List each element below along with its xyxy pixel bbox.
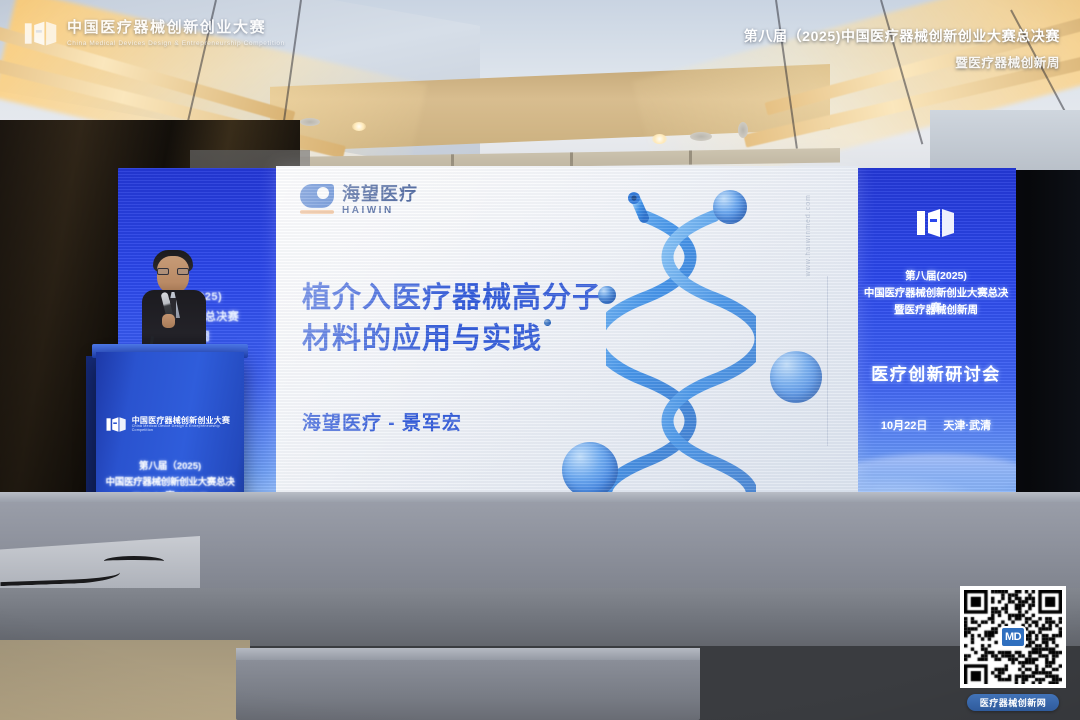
stage-step-top <box>236 648 700 660</box>
watermark-event-line1: 第八届（2025)中国医疗器械创新创业大赛总决赛 <box>744 26 1060 46</box>
slide-title: 植介入医疗器械高分子 材料的应用与实践 <box>302 278 632 360</box>
watermark-event-line2: 暨医疗器械创新周 <box>744 52 1060 71</box>
watermark-title-en: China Medical Devices Design & Entrepren… <box>67 40 285 47</box>
top-right-watermark: 第八届（2025)中国医疗器械创新创业大赛总决赛 暨医疗器械创新周 <box>744 26 1060 71</box>
competition-book-logo-icon <box>106 416 127 433</box>
conference-stage-photo: 届(2025) 创业大赛总决赛 新周 会 第八届(2025) 中国医疗器械创新创… <box>0 0 1080 720</box>
top-left-watermark: 中国医疗器械创新创业大赛 China Medical Devices Desig… <box>24 20 285 47</box>
right-banner-headline: 医疗创新研讨会 <box>862 360 1010 385</box>
right-banner-line1: 第八届(2025) <box>862 268 1010 283</box>
qr-code-block[interactable]: MD 医疗器械创新网 <box>960 586 1066 711</box>
haiwin-drop-logo-icon <box>300 184 334 216</box>
competition-book-logo-icon <box>916 208 956 238</box>
decorative-sphere <box>562 442 618 496</box>
ceiling-vent <box>690 132 712 141</box>
right-led-banner: 第八届(2025) 中国医疗器械创新创业大赛总决赛 暨医疗器械创新周 医疗创新研… <box>856 168 1016 516</box>
haiwin-logo: 海望医疗 HAIWIN <box>300 184 418 216</box>
speaker-head <box>157 256 189 294</box>
slide-url-watermark: www.haiwinmed.com <box>805 194 812 276</box>
decorative-sphere <box>770 351 822 403</box>
speaker-hand <box>162 314 175 328</box>
ceiling-speaker <box>738 122 748 138</box>
podium-line1: 第八届（2025) <box>102 458 238 472</box>
haiwin-logo-cn: 海望医疗 <box>342 185 418 203</box>
slide-presenter: 海望医疗 - 景军宏 <box>302 408 462 435</box>
ceiling-vent <box>300 118 320 126</box>
downlight-icon <box>652 134 667 144</box>
right-banner-line3: 暨医疗器械创新周 <box>862 302 1010 317</box>
podium-logo: 中国医疗器械创新创业大赛 China Medical Device Design… <box>106 416 236 433</box>
qr-code-label: 医疗器械创新网 <box>967 694 1059 711</box>
stage-front-face <box>0 588 1080 646</box>
stage-back-edge <box>0 492 1080 502</box>
slide-title-line2: 材料的应用与实践 <box>302 319 632 360</box>
decorative-sphere <box>598 286 616 304</box>
decorative-sphere <box>713 190 747 224</box>
glasses-icon <box>157 268 189 275</box>
slide-title-line1: 植介入医疗器械高分子 <box>302 278 632 319</box>
qr-center-logo: MD <box>1000 626 1026 648</box>
downlight-icon <box>352 122 366 131</box>
haiwin-logo-en: HAIWIN <box>342 206 418 216</box>
blue-helix-coil-illustration <box>606 178 756 496</box>
floor-cable <box>104 556 164 566</box>
decorative-sphere <box>544 319 551 326</box>
slide-divider <box>827 276 828 446</box>
qr-code[interactable]: MD <box>960 586 1066 688</box>
projection-slide: 海望医疗 HAIWIN 植介入医疗器械高分子 材料的应用与实践 海望医疗 - 景… <box>276 166 858 496</box>
podium-logo-en: China Medical Device Design & Entreprene… <box>132 425 236 433</box>
competition-book-logo-icon <box>24 20 58 47</box>
watermark-title-cn: 中国医疗器械创新创业大赛 <box>67 20 285 37</box>
